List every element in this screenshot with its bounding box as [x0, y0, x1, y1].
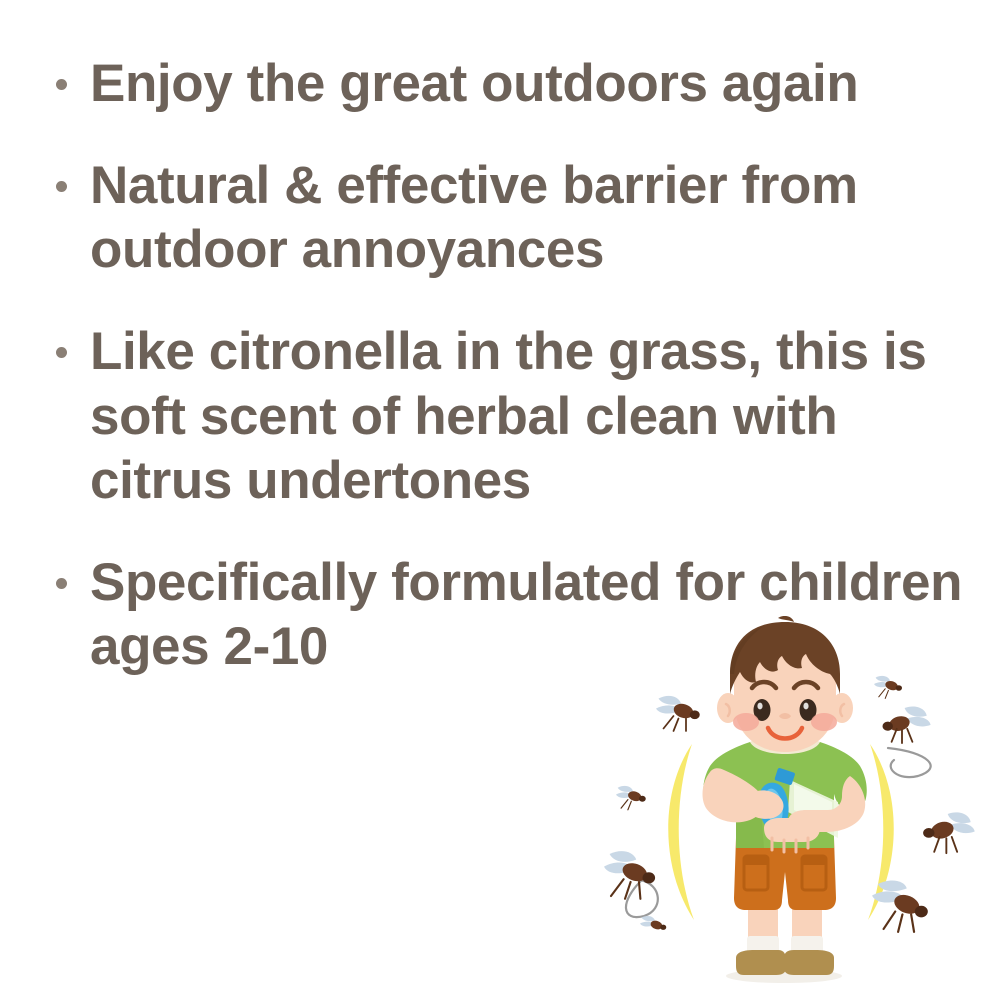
cheek-right-icon [811, 713, 837, 731]
bullet-dot-icon [56, 181, 67, 192]
bullet-text: Natural & effective barrier from outdoor… [90, 154, 968, 282]
infographic-panel: Enjoy the great outdoors again Natural &… [0, 0, 1000, 1000]
head-group [717, 616, 853, 752]
mosquito-icon [640, 916, 666, 931]
cheek-left-icon [733, 713, 759, 731]
legs-group [736, 904, 834, 975]
child-repellent-illustration [588, 616, 1000, 1000]
bullet-dot-icon [56, 79, 67, 90]
mosquito-icon [883, 706, 931, 743]
protective-arc-left-icon [668, 744, 694, 920]
bullet-dot-icon [56, 578, 67, 589]
mosquito-icon [923, 812, 975, 853]
list-item: Enjoy the great outdoors again [48, 52, 968, 116]
shoe-left-icon [736, 950, 786, 975]
shoe-right-icon [784, 950, 834, 975]
bullet-dot-icon [56, 347, 67, 358]
mosquito-icon [616, 786, 646, 810]
list-item: Natural & effective barrier from outdoor… [48, 154, 968, 282]
mosquito-trail-right-icon [888, 748, 931, 777]
benefits-bullet-list: Enjoy the great outdoors again Natural &… [48, 52, 968, 679]
bullet-text: Like citronella in the grass, this is so… [90, 320, 968, 512]
bullet-text: Enjoy the great outdoors again [90, 52, 968, 116]
list-item: Like citronella in the grass, this is so… [48, 320, 968, 512]
mosquito-icon [874, 676, 902, 698]
mosquito-icon [656, 696, 700, 731]
mosquito-icon [604, 851, 655, 899]
